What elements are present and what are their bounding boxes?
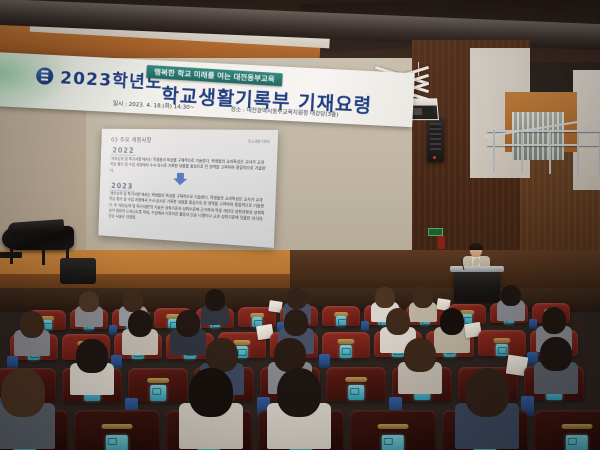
audience-head <box>277 368 322 416</box>
audience-head <box>79 291 99 312</box>
slide-header: 03 주요 개정사항 <box>111 135 152 144</box>
slide-paragraph-2023: '세부능력 및 특기사항'에서는 학생들의 특성을 구체적으로 기술한다. 학생… <box>108 191 266 229</box>
seat-side-panel <box>361 321 369 331</box>
audience-member <box>277 368 322 445</box>
audience-head <box>1 368 46 416</box>
piano-bench <box>0 252 22 258</box>
seat-plaque <box>378 424 409 429</box>
audience-member <box>76 339 107 393</box>
seat-number-tag <box>336 316 346 326</box>
audience-head <box>20 311 45 338</box>
audience-member <box>465 368 510 445</box>
audience-head <box>176 310 201 337</box>
slide-year-2023: 2023 <box>111 182 133 191</box>
seat-plaque <box>147 378 169 383</box>
seat-number-tag <box>382 435 404 450</box>
ceiling-speaker <box>427 118 444 162</box>
seat-number-tag <box>566 435 588 450</box>
seat-plaque <box>562 424 593 429</box>
seat-number-tag <box>236 346 248 358</box>
seat-number-tag <box>150 385 166 401</box>
audience-member <box>79 291 99 325</box>
audience-seating-area <box>0 276 600 450</box>
seat-plaque <box>493 338 510 343</box>
audience-head <box>404 338 435 372</box>
audience-member <box>176 310 201 353</box>
slide-year-2022: 2022 <box>112 146 134 155</box>
seat-side-panel <box>529 319 537 329</box>
audience-head <box>274 338 305 372</box>
slide-paragraph-2022: '세부능력 및 특기사항'에서는 학생들의 특성을 구체적으로 기술한다. 학생… <box>110 156 267 179</box>
audience-member <box>1 368 46 445</box>
exit-sign <box>428 228 443 236</box>
audience-head <box>540 337 571 371</box>
audience-head <box>465 368 510 416</box>
audience-head <box>375 287 395 308</box>
audience-head <box>205 289 225 310</box>
audience-member <box>189 368 234 445</box>
fire-extinguisher <box>438 236 445 249</box>
audience-head <box>413 286 433 307</box>
balcony-railing <box>487 128 600 174</box>
audience-member <box>128 310 153 353</box>
audience-head <box>542 307 567 334</box>
audience-member <box>440 308 465 351</box>
audience-head <box>76 339 107 373</box>
audience-head <box>128 310 153 337</box>
audience-head <box>284 309 309 336</box>
audience-member <box>540 337 571 391</box>
audience-head <box>386 308 411 335</box>
audience-member <box>205 289 225 323</box>
audience-member <box>404 338 435 392</box>
seat-number-tag <box>496 344 508 356</box>
speaker-power-led <box>433 156 436 159</box>
auditorium-photo: 2023학년도 행복한 학교 미래를 여는 대전동부교육 학교생활기록부 기재요… <box>0 0 600 450</box>
seat-plaque <box>345 377 367 382</box>
audience-member <box>413 286 433 320</box>
banner-green-wash <box>0 52 65 109</box>
speaker-grill <box>430 123 441 153</box>
audience-member <box>20 311 45 354</box>
seat-number-tag <box>106 435 128 450</box>
audience-member <box>501 285 521 319</box>
audience-head <box>287 288 307 309</box>
projection-screen: 03 주요 개정사항 학교생활기록부 2022 '세부능력 및 특기사항'에서는… <box>98 129 278 248</box>
audience-head <box>123 290 143 311</box>
audience-head <box>189 368 234 416</box>
seat-number-tag <box>348 385 364 401</box>
audience-head <box>501 285 521 306</box>
seat-number-tag <box>340 345 352 357</box>
audience-head <box>206 338 237 372</box>
seat-plaque <box>337 339 354 344</box>
slide-page-label: 학교생활기록부 <box>248 140 270 145</box>
seat-plaque <box>102 424 133 429</box>
seat-side-panel <box>319 354 330 368</box>
audience-head <box>440 308 465 335</box>
